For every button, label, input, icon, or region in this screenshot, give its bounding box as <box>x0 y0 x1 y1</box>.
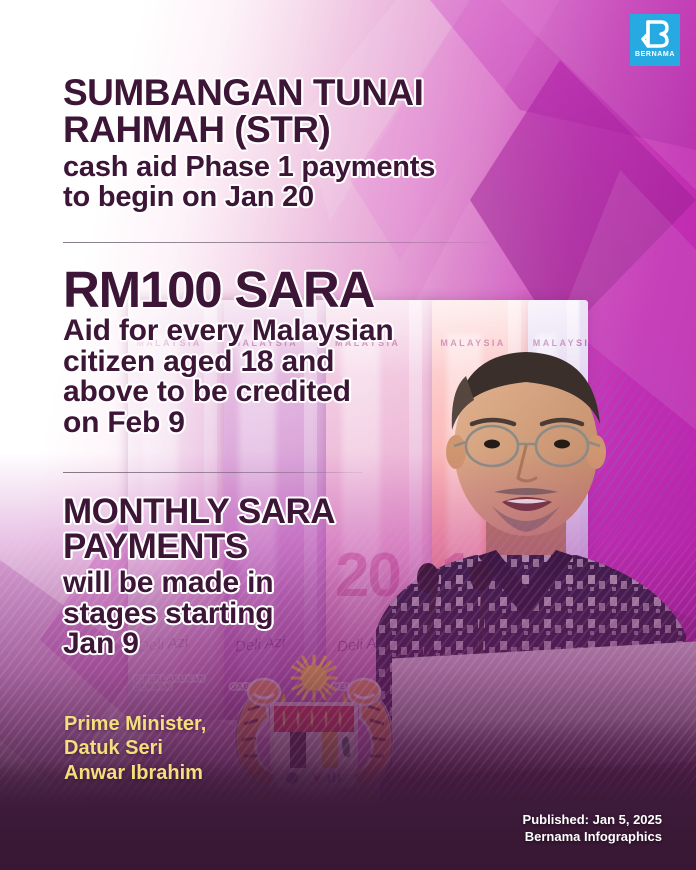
monthly-headline-line-2: PAYMENTS <box>63 529 335 564</box>
infographics-credit: Bernama Infographics <box>523 828 662 846</box>
attribution-line-2: Datuk Seri <box>64 736 206 760</box>
block-str: SUMBANGAN TUNAI RAHMAH (STR) cash aid Ph… <box>63 74 435 212</box>
footer-credit: Published: Jan 5, 2025 Bernama Infograph… <box>523 811 662 846</box>
sara100-subtext-line-4: on Feb 9 <box>63 408 394 439</box>
sara100-subtext-line-2: citizen aged 18 and <box>63 347 394 378</box>
str-subtext-line-2: to begin on Jan 20 <box>63 183 435 213</box>
published-date: Published: Jan 5, 2025 <box>523 811 662 829</box>
sara100-headline: RM100 SARA <box>63 264 394 315</box>
sara100-headline-line-1: RM100 SARA <box>63 264 394 315</box>
sara100-subtext-line-1: Aid for every Malaysian <box>63 316 394 347</box>
str-headline: SUMBANGAN TUNAI RAHMAH (STR) <box>63 74 435 148</box>
monthly-subtext-line-3: Jan 9 <box>63 629 335 660</box>
attribution: Prime Minister, Datuk Seri Anwar Ibrahim <box>64 712 206 785</box>
monthly-headline: MONTHLY SARA PAYMENTS <box>63 494 335 564</box>
block-monthly-sara: MONTHLY SARA PAYMENTS will be made in st… <box>63 494 335 660</box>
monthly-headline-line-1: MONTHLY SARA <box>63 494 335 529</box>
sara100-subtext-line-3: above to be credited <box>63 377 394 408</box>
section-divider-1 <box>63 242 491 243</box>
infographic-poster: MALAYSIA Deli Azi DIPERLAKUKAN DENGAN MA… <box>0 0 696 870</box>
monthly-subtext-line-1: will be made in <box>63 568 335 599</box>
str-subtext: cash aid Phase 1 payments to begin on Ja… <box>63 153 435 212</box>
str-headline-line-1: SUMBANGAN TUNAI <box>63 74 435 111</box>
attribution-line-3: Anwar Ibrahim <box>64 761 206 785</box>
monthly-subtext: will be made in stages starting Jan 9 <box>63 568 335 660</box>
poster-content: SUMBANGAN TUNAI RAHMAH (STR) cash aid Ph… <box>0 0 696 870</box>
sara100-subtext: Aid for every Malaysian citizen aged 18 … <box>63 316 394 438</box>
block-sara-100: RM100 SARA Aid for every Malaysian citiz… <box>63 264 394 438</box>
str-subtext-line-1: cash aid Phase 1 payments <box>63 153 435 183</box>
monthly-subtext-line-2: stages starting <box>63 599 335 630</box>
attribution-line-1: Prime Minister, <box>64 712 206 736</box>
str-headline-line-2: RAHMAH (STR) <box>63 111 435 148</box>
section-divider-2 <box>63 472 363 473</box>
